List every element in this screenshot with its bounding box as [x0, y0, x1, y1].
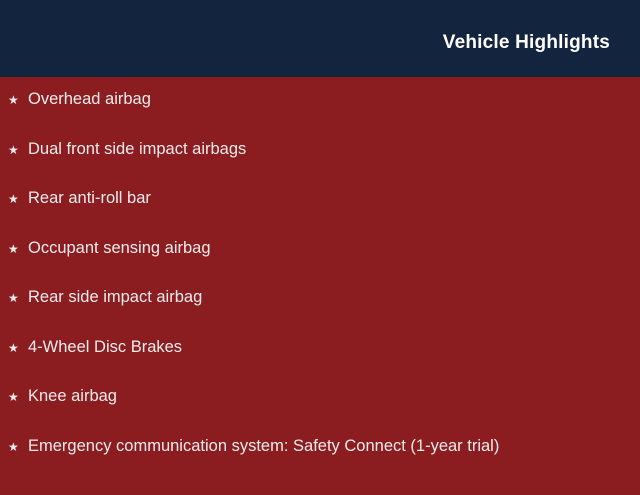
list-item: ★ Overhead airbag	[8, 89, 624, 139]
list-item-label: Overhead airbag	[28, 89, 151, 109]
slide-header: Vehicle Highlights	[0, 0, 640, 77]
star-icon: ★	[8, 90, 28, 110]
star-icon: ★	[8, 338, 28, 358]
star-icon: ★	[8, 387, 28, 407]
page-title: Vehicle Highlights	[443, 32, 610, 55]
list-item-label: Dual front side impact airbags	[28, 139, 246, 159]
list-item-label: 4-Wheel Disc Brakes	[28, 337, 182, 357]
star-icon: ★	[8, 140, 28, 160]
list-item: ★ Emergency communication system: Safety…	[8, 436, 624, 486]
star-icon: ★	[8, 239, 28, 259]
list-item-label: Emergency communication system: Safety C…	[28, 436, 499, 456]
list-item: ★ Occupant sensing airbag	[8, 238, 624, 288]
list-item: ★ 4-Wheel Disc Brakes	[8, 337, 624, 387]
list-item: ★ Dual front side impact airbags	[8, 139, 624, 189]
list-item-label: Rear anti-roll bar	[28, 188, 151, 208]
list-item: ★ Rear side impact airbag	[8, 287, 624, 337]
highlights-list: ★ Overhead airbag ★ Dual front side impa…	[8, 89, 624, 485]
list-item: ★ Rear anti-roll bar	[8, 188, 624, 238]
star-icon: ★	[8, 288, 28, 308]
list-item-label: Knee airbag	[28, 386, 117, 406]
list-item: ★ Knee airbag	[8, 386, 624, 436]
list-item-label: Occupant sensing airbag	[28, 238, 211, 258]
highlights-panel: ★ Overhead airbag ★ Dual front side impa…	[0, 77, 640, 495]
list-item-label: Rear side impact airbag	[28, 287, 202, 307]
star-icon: ★	[8, 437, 28, 457]
vehicle-highlights-slide: Vehicle Highlights ★ Overhead airbag ★ D…	[0, 0, 640, 480]
star-icon: ★	[8, 189, 28, 209]
